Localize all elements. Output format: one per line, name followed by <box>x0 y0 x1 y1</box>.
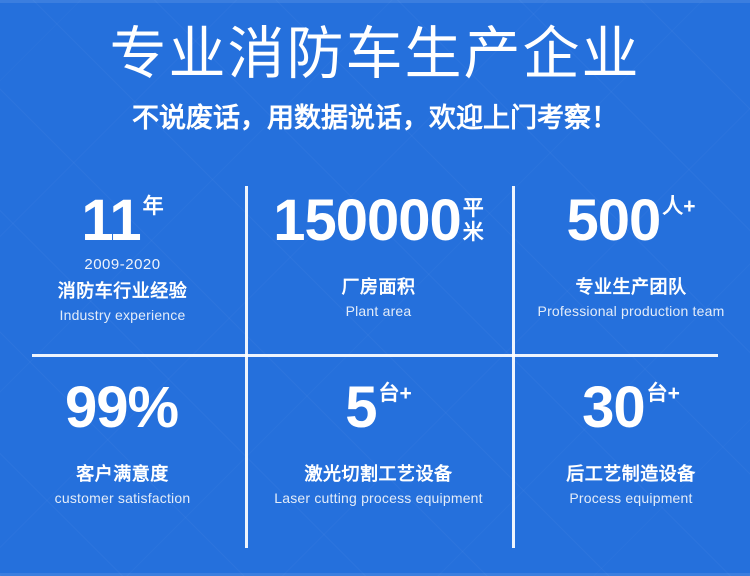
stat-value: 30 台+ <box>582 380 680 435</box>
stat-cell-production-team: 500 人+ 专业生产团队 Professional production te… <box>512 185 750 355</box>
headline: 专业消防车生产企业 <box>0 0 750 83</box>
stat-cell-customer-satisfaction: 99% 客户满意度 customer satisfaction <box>0 355 245 550</box>
stat-unit-bottom: 米 <box>463 221 484 245</box>
promotional-banner: 专业消防车生产企业 不说废话，用数据说话，欢迎上门考察！ 11 年 2009-2… <box>0 0 750 576</box>
stat-cell-plant-area: 150000 平 米 厂房面积 Plant area <box>245 185 512 355</box>
stat-number: 500 <box>566 193 660 248</box>
stat-label-cn: 专业生产团队 <box>576 278 687 296</box>
stat-value: 500 人+ <box>566 193 695 248</box>
stat-cell-industry-experience: 11 年 2009-2020 消防车行业经验 Industry experien… <box>0 185 245 355</box>
stat-unit-top: 平 <box>463 197 484 221</box>
stat-number: 150000 <box>273 193 461 248</box>
subheadline: 不说废话，用数据说话，欢迎上门考察！ <box>0 83 750 132</box>
stat-number: 11 <box>81 193 140 248</box>
stat-label-en: Industry experience <box>60 308 186 322</box>
stat-label-cn: 后工艺制造设备 <box>566 465 696 483</box>
stat-unit: 平 米 <box>463 193 484 244</box>
stat-value: 99% <box>65 380 180 435</box>
stat-unit: 人+ <box>662 193 695 218</box>
stat-label-en: customer satisfaction <box>55 491 191 505</box>
stat-year-range: 2009-2020 <box>84 257 160 272</box>
stat-value: 5 台+ <box>345 380 412 435</box>
stat-label-cn: 激光切割工艺设备 <box>305 465 453 483</box>
stat-label-en: Plant area <box>346 304 412 318</box>
stat-unit: 年 <box>143 193 164 218</box>
stat-value: 150000 平 米 <box>273 193 484 248</box>
stat-label-cn: 厂房面积 <box>342 278 416 296</box>
stat-cell-process-equipment: 30 台+ 后工艺制造设备 Process equipment <box>512 355 750 550</box>
stat-unit: 台+ <box>647 380 680 405</box>
stat-number: 30 <box>582 380 645 435</box>
stat-label-en: Laser cutting process equipment <box>274 491 483 505</box>
stat-cell-laser-cutting-equipment: 5 台+ 激光切割工艺设备 Laser cutting process equi… <box>245 355 512 550</box>
stat-label-en: Process equipment <box>569 491 692 505</box>
banner-header: 专业消防车生产企业 不说废话，用数据说话，欢迎上门考察！ <box>0 0 750 132</box>
stat-label-cn: 消防车行业经验 <box>58 282 188 300</box>
stat-number: 99% <box>65 380 178 435</box>
stat-value: 11 年 <box>81 193 163 248</box>
stat-unit: 台+ <box>379 380 412 405</box>
stat-number: 5 <box>345 380 376 435</box>
stat-label-cn: 客户满意度 <box>76 465 169 483</box>
stats-grid: 11 年 2009-2020 消防车行业经验 Industry experien… <box>0 185 750 550</box>
stat-label-en: Professional production team <box>538 304 725 318</box>
